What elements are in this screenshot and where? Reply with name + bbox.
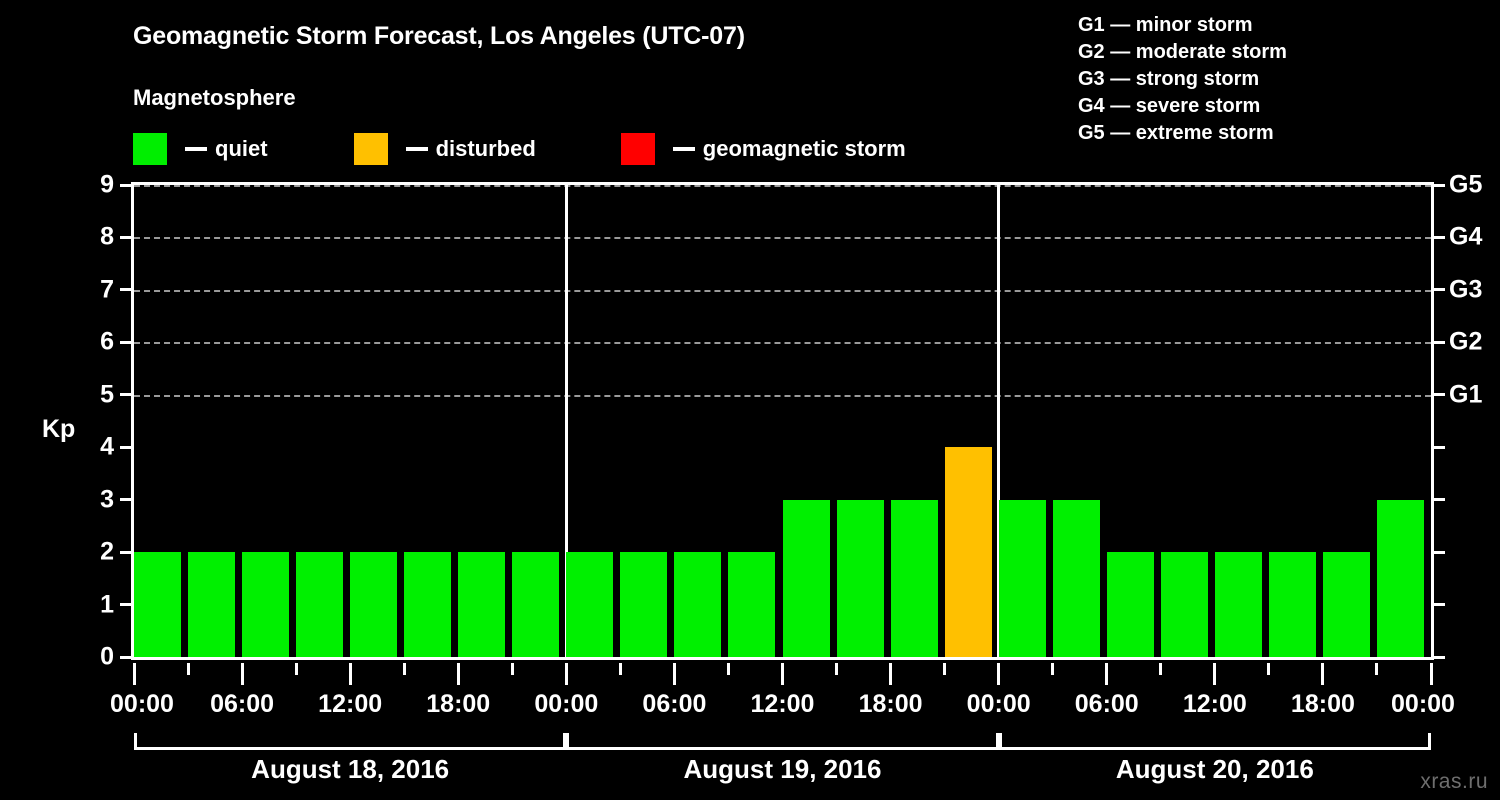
y-tick-label-9: 9	[84, 171, 114, 200]
y-tick-label-8: 8	[84, 223, 114, 252]
y-tick-right	[1434, 184, 1445, 187]
gridline-kp-7	[134, 290, 1431, 292]
x-tick-label: 18:00	[1291, 690, 1355, 719]
page-title: Geomagnetic Storm Forecast, Los Angeles …	[133, 22, 745, 51]
x-tick	[403, 663, 406, 675]
bar-kp	[837, 500, 884, 657]
legend-item-disturbed: disturbed	[354, 133, 536, 165]
x-tick	[1375, 663, 1378, 675]
x-tick	[997, 663, 1000, 685]
date-label: August 18, 2016	[251, 754, 449, 785]
g-scale-legend: G1 — minor stormG2 — moderate stormG3 — …	[1078, 12, 1287, 147]
bar-kp	[1215, 552, 1262, 657]
bar-kp	[350, 552, 397, 657]
x-tick-label: 18:00	[426, 690, 490, 719]
bar-kp	[999, 500, 1046, 657]
g-axis-label-G4: G4	[1449, 223, 1482, 252]
y-tick-left	[120, 236, 131, 239]
gridline-kp-5	[134, 395, 1431, 397]
watermark: xras.ru	[1420, 770, 1488, 794]
g-legend-row-g4: G4 — severe storm	[1078, 93, 1287, 120]
bar-kp	[620, 552, 667, 657]
y-tick-left	[120, 288, 131, 291]
x-tick-label: 12:00	[751, 690, 815, 719]
g-axis-label-G5: G5	[1449, 171, 1482, 200]
x-tick-label: 00:00	[534, 690, 598, 719]
chart-plot-inner	[134, 185, 1431, 657]
bar-kp	[1107, 552, 1154, 657]
x-tick	[1267, 663, 1270, 675]
x-tick	[457, 663, 460, 685]
date-label: August 20, 2016	[1116, 754, 1314, 785]
y-tick-right	[1434, 551, 1445, 554]
bar-kp	[1377, 500, 1424, 657]
legend-swatch-quiet	[133, 133, 167, 165]
y-tick-label-5: 5	[84, 380, 114, 409]
chart-plot-area	[131, 182, 1434, 660]
y-tick-label-1: 1	[84, 590, 114, 619]
g-legend-row-g1: G1 — minor storm	[1078, 12, 1287, 39]
bar-kp	[296, 552, 343, 657]
bar-kp	[1323, 552, 1370, 657]
bar-kp	[242, 552, 289, 657]
y-tick-label-7: 7	[84, 275, 114, 304]
x-tick	[889, 663, 892, 685]
x-tick-label: 12:00	[318, 690, 382, 719]
y-tick-label-6: 6	[84, 328, 114, 357]
y-tick-right	[1434, 603, 1445, 606]
y-tick-left	[120, 498, 131, 501]
bar-kp	[891, 500, 938, 657]
y-tick-right	[1434, 236, 1445, 239]
x-tick	[133, 663, 136, 685]
x-tick	[727, 663, 730, 675]
gridline-kp-6	[134, 342, 1431, 344]
x-tick	[943, 663, 946, 675]
bar-kp	[512, 552, 559, 657]
g-axis-label-G2: G2	[1449, 328, 1482, 357]
bar-kp	[1161, 552, 1208, 657]
y-tick-right	[1434, 656, 1445, 659]
legend-swatch-storm	[621, 133, 655, 165]
bar-kp	[1053, 500, 1100, 657]
bar-kp	[1269, 552, 1316, 657]
y-tick-right	[1434, 341, 1445, 344]
y-tick-right	[1434, 446, 1445, 449]
legend-dash-icon	[185, 147, 207, 151]
x-tick	[1159, 663, 1162, 675]
x-tick-label: 12:00	[1183, 690, 1247, 719]
gridline-kp-9	[134, 185, 1431, 187]
x-tick-label: 06:00	[210, 690, 274, 719]
date-bracket	[566, 733, 998, 750]
x-tick	[1321, 663, 1324, 685]
bar-kp	[134, 552, 181, 657]
x-tick	[511, 663, 514, 675]
y-tick-label-3: 3	[84, 485, 114, 514]
g-legend-row-g3: G3 — strong storm	[1078, 66, 1287, 93]
x-tick	[349, 663, 352, 685]
bar-kp	[458, 552, 505, 657]
x-tick-label: 06:00	[642, 690, 706, 719]
legend-swatch-disturbed	[354, 133, 388, 165]
x-tick	[1105, 663, 1108, 685]
bar-kp	[674, 552, 721, 657]
y-tick-left	[120, 446, 131, 449]
legend-label-storm: geomagnetic storm	[703, 136, 906, 162]
bar-kp	[945, 447, 992, 657]
y-tick-left	[120, 656, 131, 659]
x-tick	[241, 663, 244, 685]
y-tick-right	[1434, 498, 1445, 501]
x-tick-label: 06:00	[1075, 690, 1139, 719]
legend-label-disturbed: disturbed	[436, 136, 536, 162]
y-tick-left	[120, 603, 131, 606]
legend-dash-icon	[673, 147, 695, 151]
g-legend-row-g2: G2 — moderate storm	[1078, 39, 1287, 66]
x-tick	[187, 663, 190, 675]
legend-item-storm: geomagnetic storm	[621, 133, 906, 165]
x-tick	[781, 663, 784, 685]
gridline-kp-8	[134, 237, 1431, 239]
bar-kp	[566, 552, 613, 657]
g-axis-label-G1: G1	[1449, 380, 1482, 409]
x-tick	[673, 663, 676, 685]
x-tick	[1051, 663, 1054, 675]
y-tick-right	[1434, 393, 1445, 396]
x-tick	[1213, 663, 1216, 685]
legend-label-quiet: quiet	[215, 136, 268, 162]
x-tick-label: 00:00	[967, 690, 1031, 719]
y-tick-label-4: 4	[84, 433, 114, 462]
y-tick-right	[1434, 288, 1445, 291]
date-bracket	[134, 733, 566, 750]
y-tick-label-2: 2	[84, 538, 114, 567]
date-label: August 19, 2016	[684, 754, 882, 785]
magnetosphere-section-label: Magnetosphere	[133, 85, 296, 111]
y-tick-label-0: 0	[84, 643, 114, 672]
x-tick	[835, 663, 838, 675]
x-tick	[619, 663, 622, 675]
bar-kp	[188, 552, 235, 657]
x-tick-label: 18:00	[859, 690, 923, 719]
legend-item-quiet: quiet	[133, 133, 268, 165]
g-legend-row-g5: G5 — extreme storm	[1078, 120, 1287, 147]
y-tick-left	[120, 184, 131, 187]
y-axis-title: Kp	[42, 415, 75, 444]
bar-kp	[728, 552, 775, 657]
x-tick	[565, 663, 568, 685]
legend-dash-icon	[406, 147, 428, 151]
x-tick-label: 00:00	[110, 690, 174, 719]
date-bracket	[999, 733, 1431, 750]
x-tick	[1430, 663, 1433, 685]
y-tick-left	[120, 393, 131, 396]
bar-kp	[404, 552, 451, 657]
y-tick-left	[120, 341, 131, 344]
x-tick-label: 00:00	[1391, 690, 1455, 719]
g-axis-label-G3: G3	[1449, 275, 1482, 304]
y-tick-left	[120, 551, 131, 554]
x-tick	[295, 663, 298, 675]
condition-legend: quietdisturbedgeomagnetic storm	[133, 133, 906, 165]
bar-kp	[783, 500, 830, 657]
